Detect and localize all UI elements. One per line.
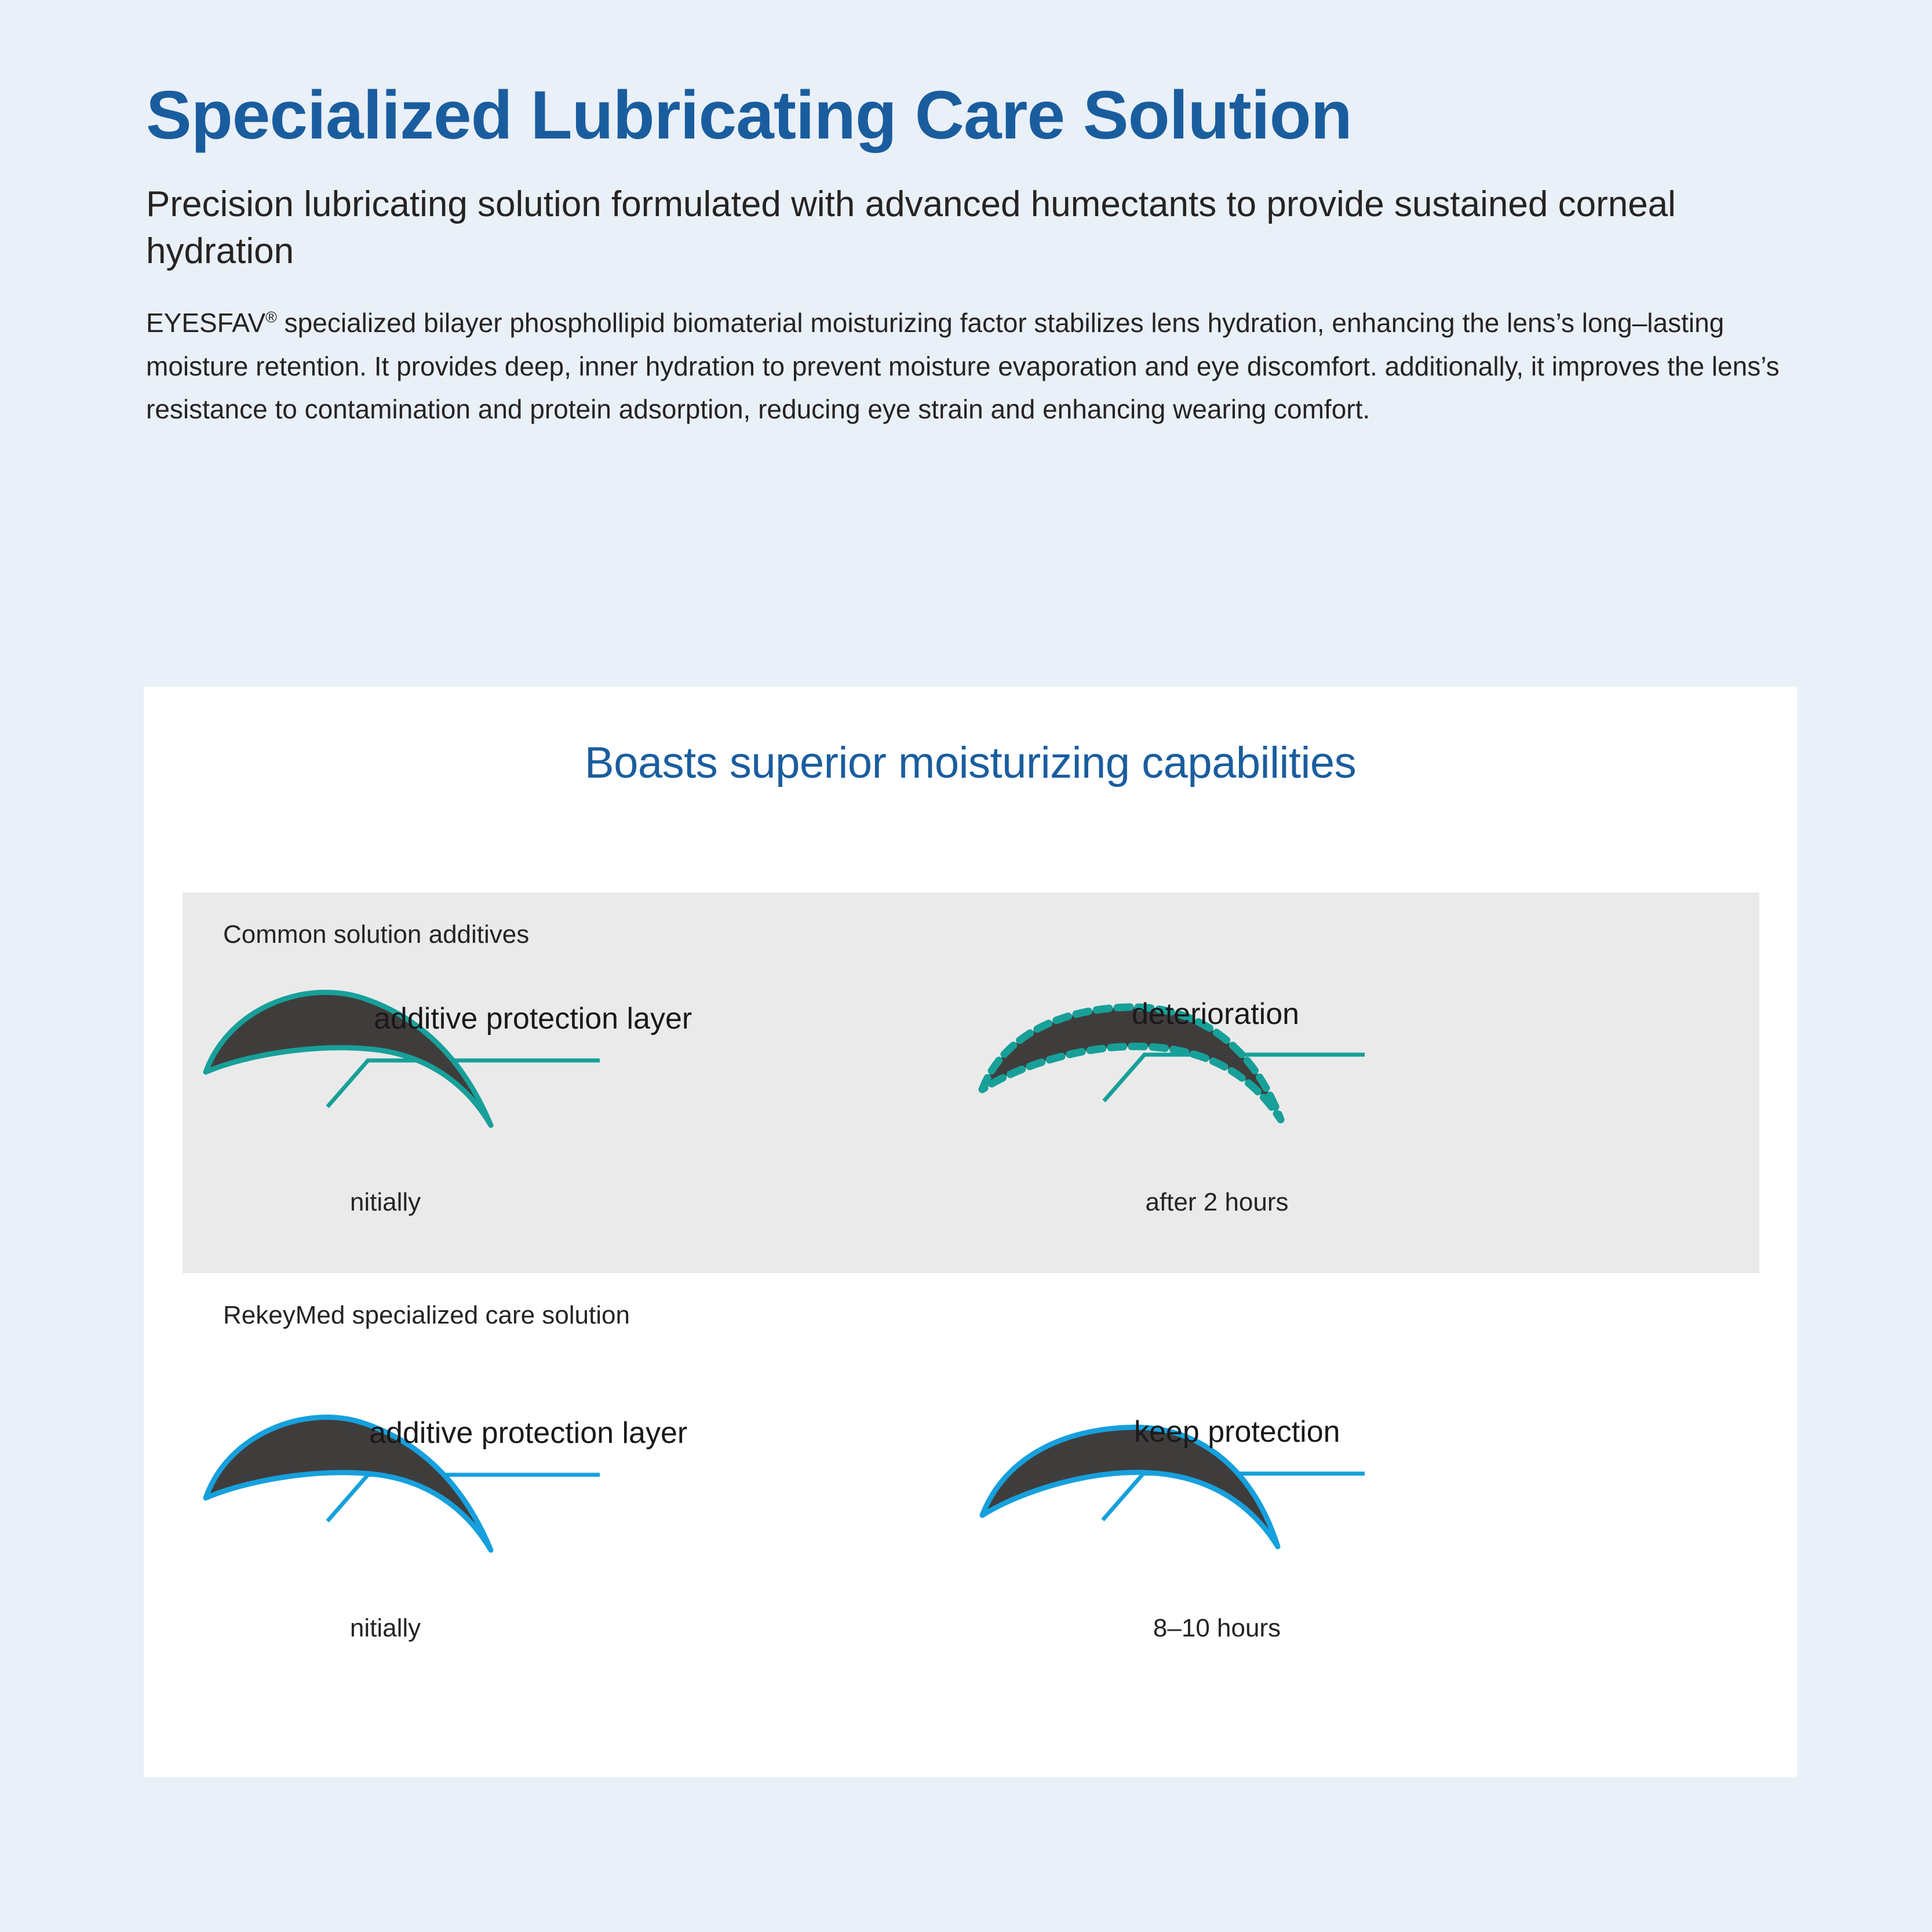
page-subtitle: Precision lubricating solution formulate… <box>146 181 1705 275</box>
panel-rekeymed-care-solution: RekeyMed specialized care solution addit… <box>183 1273 1759 1654</box>
page-description-text: specialized bilayer phosphollipid biomat… <box>146 308 1780 424</box>
header-block: Specialized Lubricating Care Solution Pr… <box>146 75 1827 431</box>
diagram-cell-rekey-initially: additive protection layer nitially <box>194 1376 959 1678</box>
brand-name: EYESFAV <box>146 308 265 338</box>
comparison-card: Boasts superior moisturizing capabilitie… <box>144 687 1797 1777</box>
lens-svg-rekey-initially <box>194 1376 959 1625</box>
card-title: Boasts superior moisturizing capabilitie… <box>144 738 1797 788</box>
lens-svg-rekey-8-10-hours <box>971 1376 1736 1625</box>
diagram-cell-rekey-8-10-hours: keep protection 8–10 hours <box>971 1376 1736 1678</box>
callout-label-additive-protection-layer: additive protection layer <box>374 1001 692 1036</box>
page-description: EYESFAV® specialized bilayer phosphollip… <box>146 301 1827 431</box>
lens-diagram-rekey-8-10-hours <box>971 1376 1736 1625</box>
callout-label-additive-protection-layer: additive protection layer <box>369 1416 687 1450</box>
caption-rekey-initially: nitially <box>269 1614 501 1643</box>
caption-common-initially: nitially <box>269 1188 501 1217</box>
page-title: Specialized Lubricating Care Solution <box>146 75 1827 156</box>
diagram-cell-common-initially: additive protection layer nitially <box>194 956 959 1257</box>
lens-diagram-rekey-initially <box>194 1376 959 1625</box>
panel-common-solution-additives: Common solution additives additive prote… <box>183 892 1759 1273</box>
caption-common-after-2-hours: after 2 hours <box>1031 1188 1402 1217</box>
lens-diagram-common-after-2-hours <box>971 956 1736 1205</box>
registered-mark-icon: ® <box>265 309 277 326</box>
lens-svg-common-after-2-hours <box>971 956 1736 1205</box>
lens-svg-common-initially <box>194 956 959 1205</box>
callout-label-keep-protection: keep protection <box>1134 1415 1340 1449</box>
panel-label-common: Common solution additives <box>223 920 529 949</box>
diagram-cell-common-after-2-hours: deterioration after 2 hours <box>971 956 1736 1257</box>
caption-rekey-8-10-hours: 8–10 hours <box>1031 1614 1402 1643</box>
panel-label-rekeymed: RekeyMed specialized care solution <box>223 1301 630 1330</box>
callout-label-deterioration: deterioration <box>1132 997 1299 1031</box>
lens-diagram-common-initially <box>194 956 959 1205</box>
